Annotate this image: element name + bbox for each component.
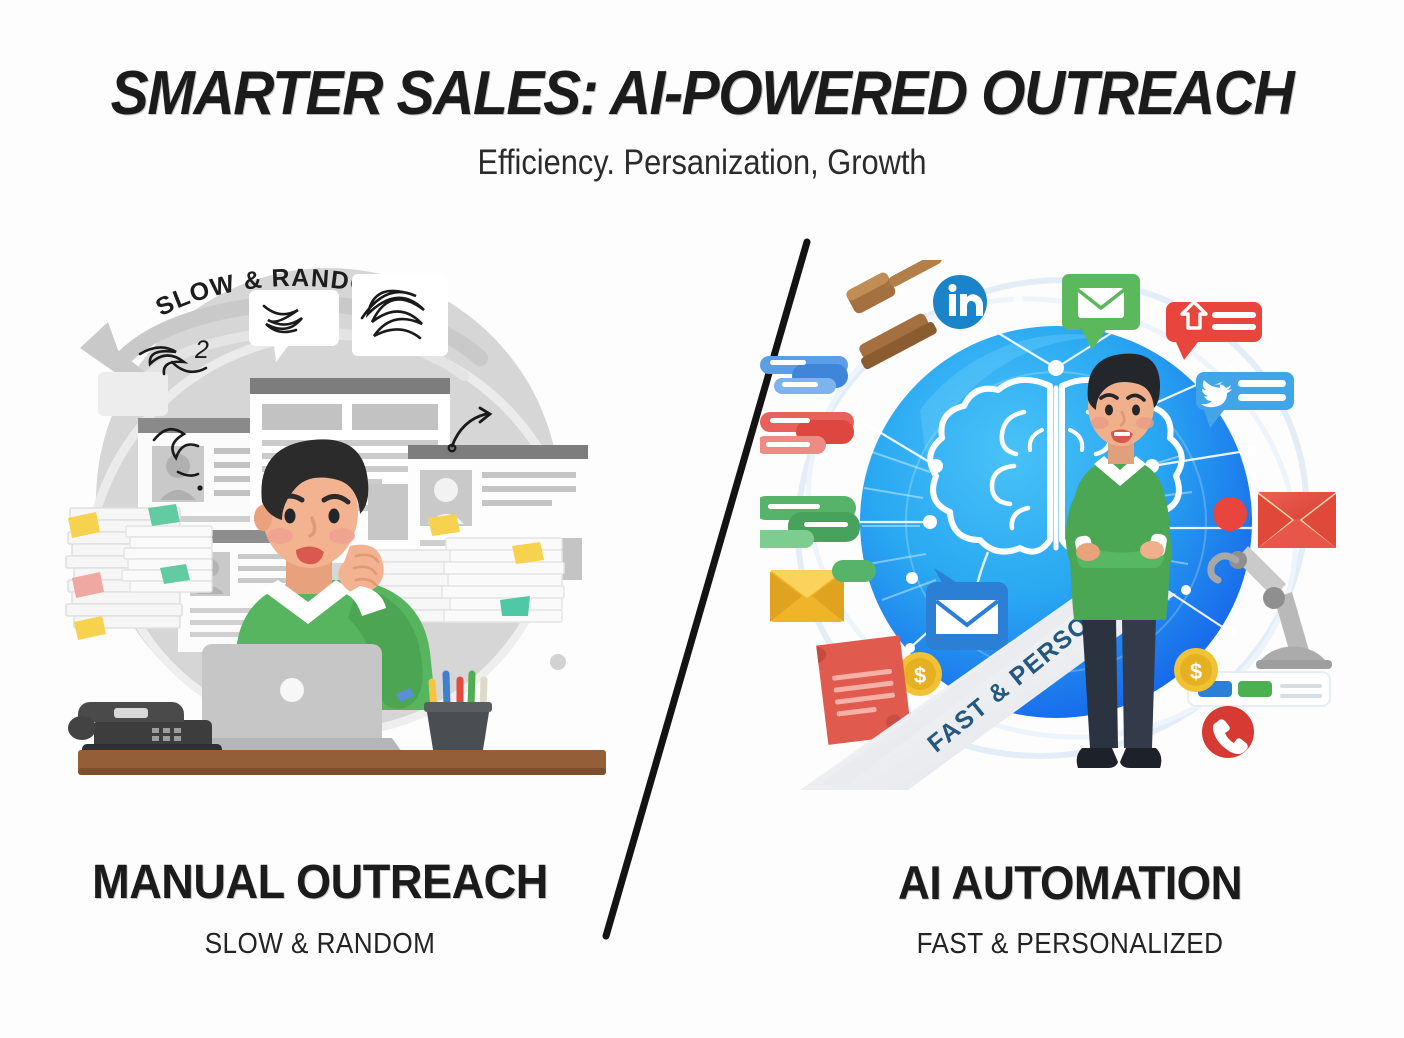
trouser-left [1082, 618, 1118, 748]
desk-edge [78, 768, 606, 775]
swoosh-dot [550, 654, 566, 670]
doodle-numeral: 2 [194, 336, 209, 364]
laptop [184, 644, 402, 752]
twitter-bubble-icon [1196, 372, 1294, 428]
chat-bubble-blue-icon [760, 356, 848, 394]
shoe-left [1077, 748, 1118, 768]
cheek-right [329, 528, 355, 544]
manual-outreach-illustration: SLOW & RANDOM [60, 250, 620, 790]
blank-note-card [98, 372, 168, 416]
chat-bubble-green-small [832, 560, 876, 582]
ai-automation-caption: AI AUTOMATION FAST & PERSONALIZED [800, 855, 1340, 961]
envelope-orange-icon [770, 570, 844, 622]
phone-badge-icon [1202, 706, 1254, 758]
linkedin-icon [933, 275, 987, 329]
chat-bubble-green-icon [760, 496, 860, 548]
ai-automation-subtitle: FAST & PERSONALIZED [827, 928, 1313, 961]
manual-outreach-caption: MANUAL OUTREACH SLOW & RANDOM [40, 855, 600, 961]
page-subtitle: Efficiency. Persanization, Growth [84, 143, 1320, 183]
shoe-right [1120, 748, 1161, 768]
coin-icon-2: $ [1174, 648, 1218, 692]
eye-left-right [1105, 405, 1113, 416]
manual-outreach-subtitle: SLOW & RANDOM [68, 928, 572, 961]
scribble-bubble-large [352, 274, 448, 356]
alert-home-bubble-icon [1166, 302, 1262, 360]
manual-outreach-title: MANUAL OUTREACH [57, 855, 583, 910]
trouser-right [1122, 618, 1156, 748]
chat-bubble-red-icon [760, 412, 854, 454]
header: SMARTER SALES: AI-POWERED OUTREACH Effic… [0, 0, 1404, 183]
pencil-cup [424, 674, 492, 756]
desk-telephone [68, 702, 222, 756]
eye-left [285, 509, 296, 524]
node-badge-red [1213, 497, 1247, 531]
eye-right [329, 509, 340, 524]
page-title: SMARTER SALES: AI-POWERED OUTREACH [56, 58, 1348, 129]
hand-right [1076, 543, 1100, 561]
cheek-right-right [1136, 417, 1154, 429]
svg-text:$: $ [914, 663, 926, 688]
hand-left [1140, 541, 1164, 559]
envelope-red-icon [1258, 492, 1336, 548]
ai-automation-illustration: $ $ [760, 260, 1340, 790]
cheek-left [267, 528, 293, 544]
cheek-left-right [1091, 417, 1109, 429]
svg-text:$: $ [1190, 659, 1202, 684]
ai-automation-title: AI AUTOMATION [816, 855, 1324, 910]
eye-right-right [1132, 405, 1140, 416]
infographic-canvas: SMARTER SALES: AI-POWERED OUTREACH Effic… [0, 0, 1404, 1038]
